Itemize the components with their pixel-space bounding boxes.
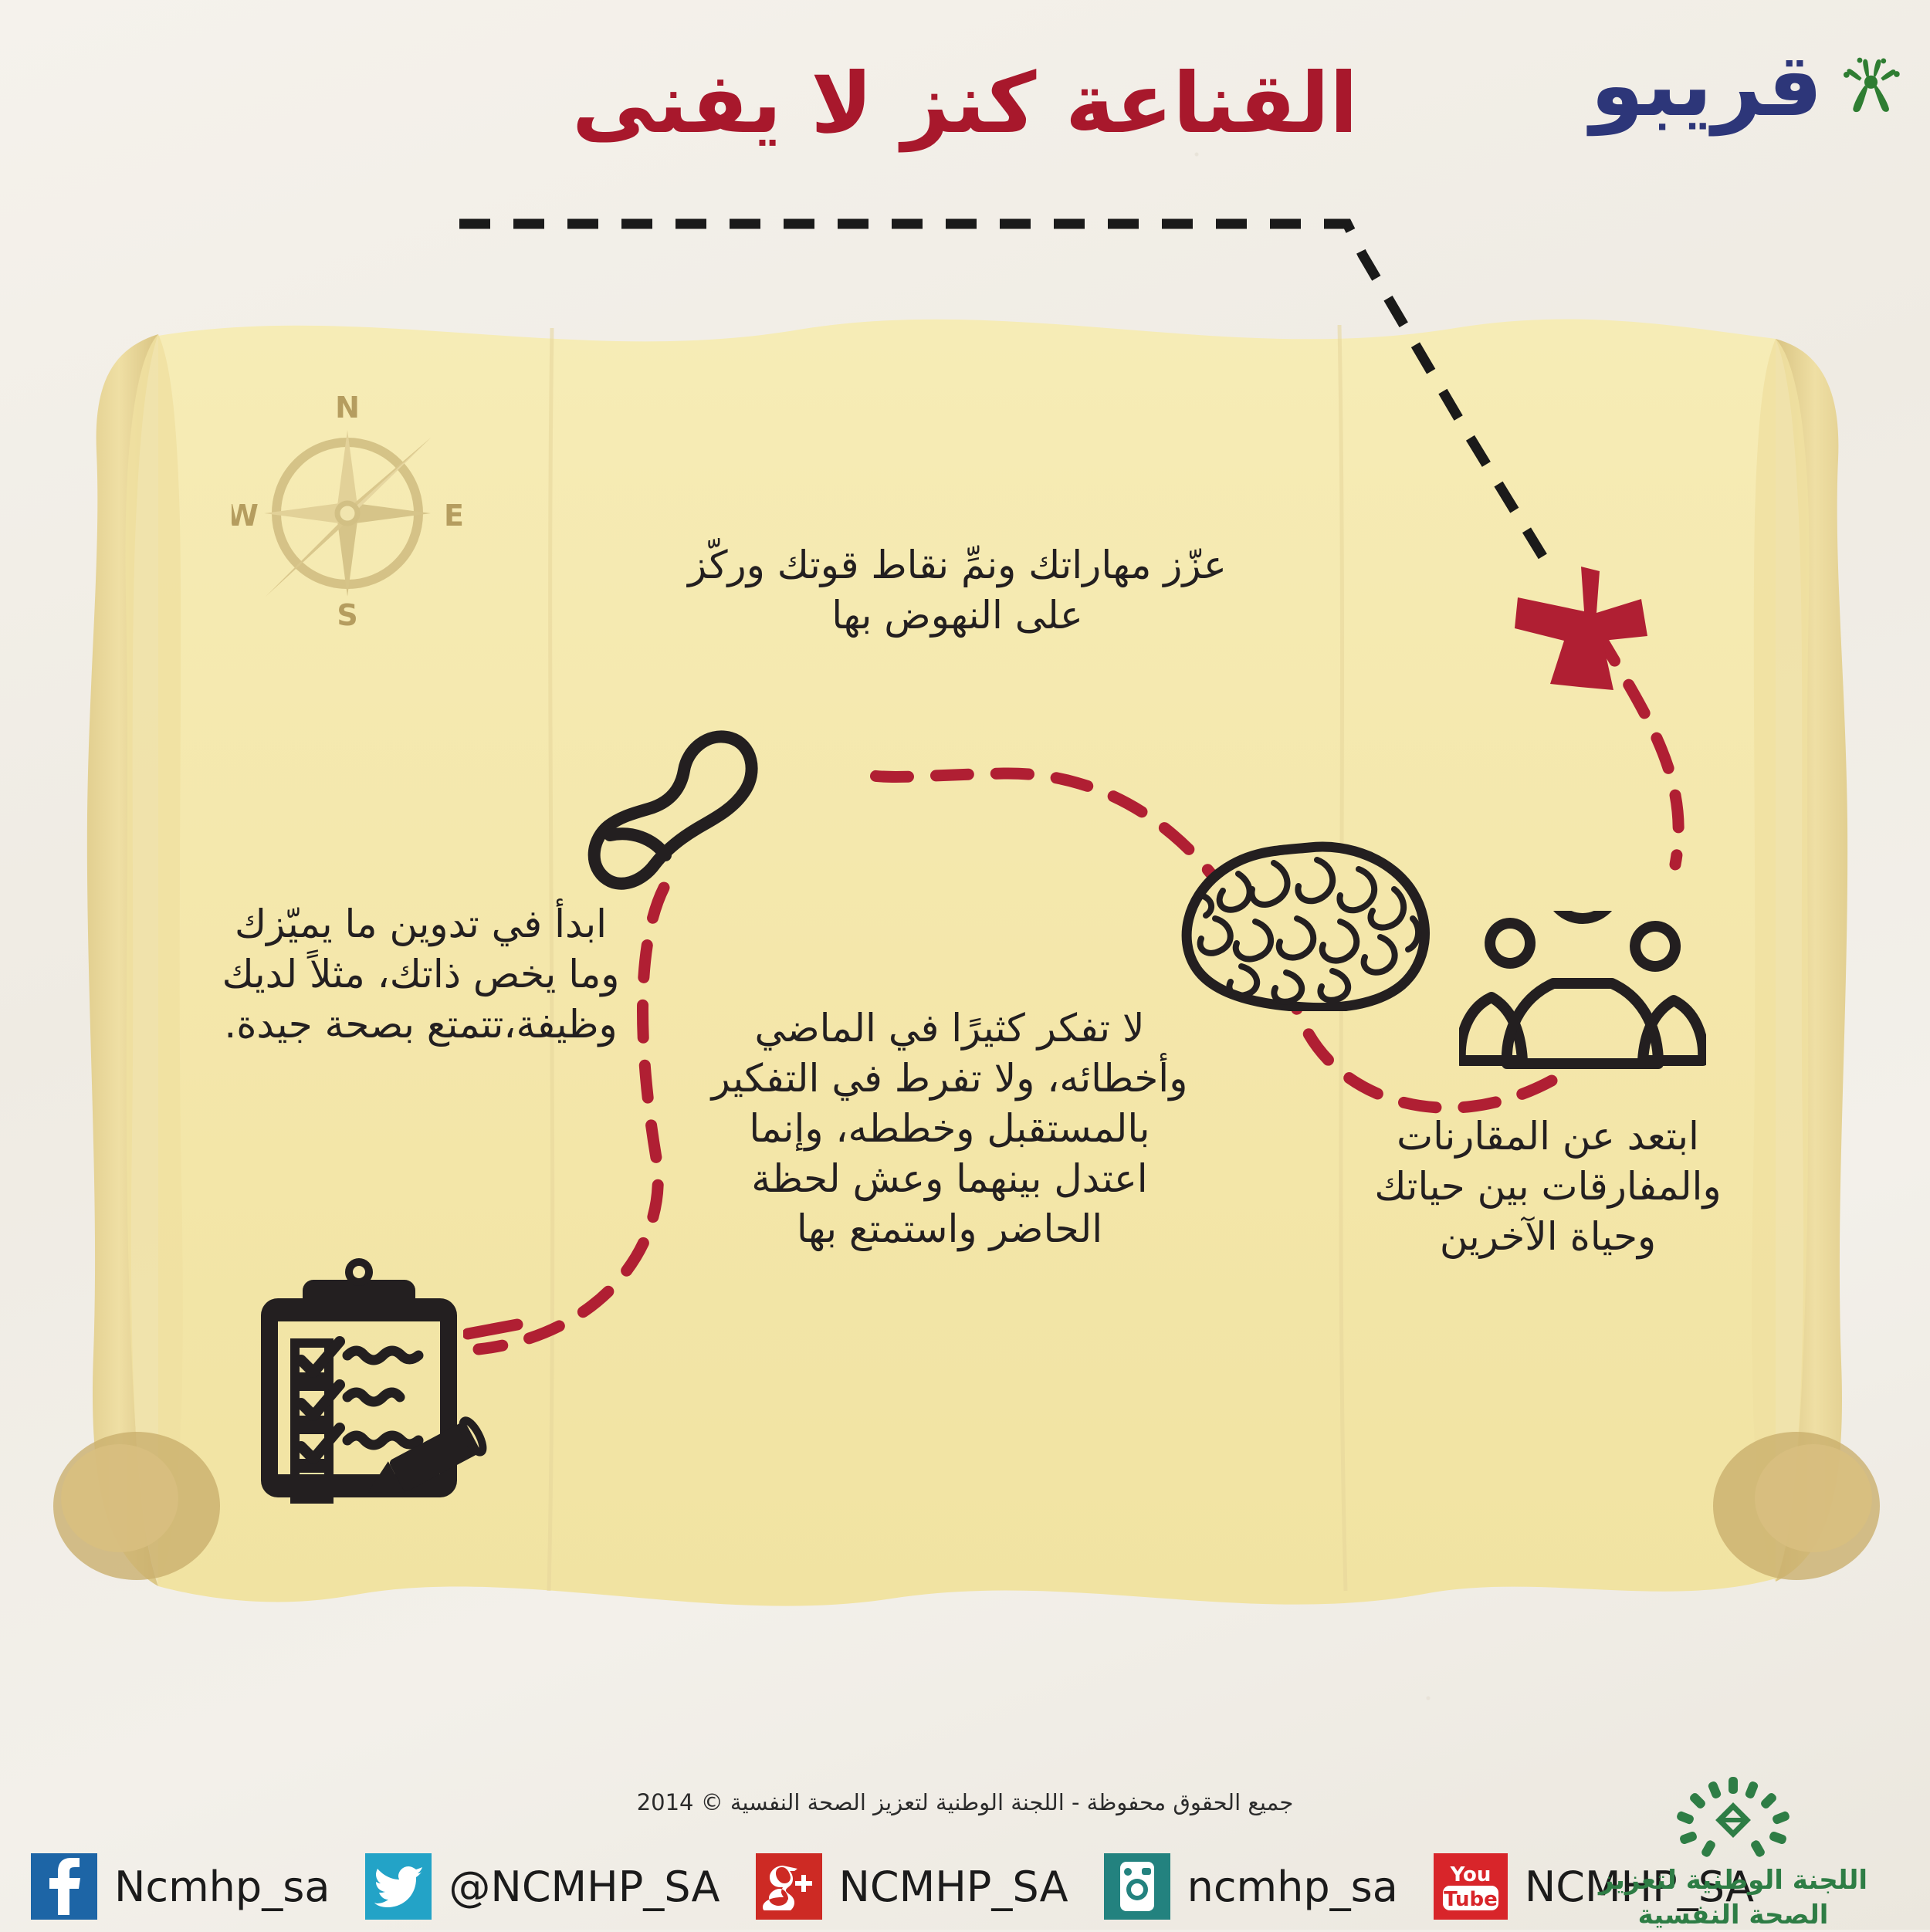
social-link-instagram[interactable]: ncmhp_sa	[1104, 1853, 1434, 1920]
flexed-bicep-icon	[579, 726, 811, 919]
brand-name-label: قريبو	[1590, 42, 1823, 129]
youtube-icon[interactable]: You Tube	[1434, 1853, 1508, 1920]
svg-text:You: You	[1449, 1863, 1491, 1886]
twitter-handle: @NCMHP_SA	[449, 1863, 720, 1911]
svg-text:Tube: Tube	[1444, 1888, 1498, 1911]
tip-text-strength: عزّز مهاراتك ونمِّ نقاط قوتك وركّز على ا…	[672, 540, 1243, 641]
facebook-icon[interactable]	[31, 1853, 97, 1920]
social-link-twitter[interactable]: @NCMHP_SA	[365, 1853, 755, 1920]
tip-text-present: لا تفكر كثيرًا في الماضي وأخطائه، ولا تف…	[699, 1003, 1200, 1254]
route-dash-fragment	[463, 1312, 533, 1351]
social-link-googleplus[interactable]: NCMHP_SA	[756, 1853, 1104, 1920]
twitter-icon[interactable]	[365, 1853, 432, 1920]
compass-north-label: N	[335, 391, 360, 425]
compass-rose-icon: N E S W	[232, 390, 463, 629]
tip-text-compare: ابتعد عن المقارنات والمفارقات بين حياتك …	[1366, 1111, 1729, 1262]
qaribo-person-mark-icon	[1832, 20, 1915, 151]
ncmhp-name-line-2: الصحة النفسية	[1567, 1900, 1899, 1931]
brand-logo-qaribo: قريبو	[1590, 14, 1915, 157]
treasure-x-marker-icon	[1490, 563, 1668, 718]
instagram-handle: ncmhp_sa	[1187, 1863, 1398, 1911]
instagram-icon[interactable]	[1104, 1853, 1170, 1920]
tip-text-notes: ابدأ في تدوين ما يميّزك وما يخص ذاتك، مث…	[216, 899, 625, 1050]
ncmhp-name-line-1: اللجنة الوطنية لتعزيز	[1567, 1865, 1899, 1896]
clipboard-checklist-icon	[255, 1258, 494, 1505]
ncmhp-organization-logo: اللجنة الوطنية لتعزيز الصحة النفسية	[1567, 1775, 1899, 1930]
social-links-bar: Ncmhp_sa @NCMHP_SA NCMHP_SA ncmhp_sa	[31, 1841, 1374, 1932]
social-link-facebook[interactable]: Ncmhp_sa	[31, 1853, 365, 1920]
googleplus-handle: NCMHP_SA	[839, 1863, 1068, 1911]
compass-east-label: E	[444, 499, 463, 533]
ncmhp-emblem-icon	[1664, 1775, 1803, 1859]
facebook-handle: Ncmhp_sa	[114, 1863, 330, 1911]
compass-south-label: S	[337, 598, 357, 629]
google-plus-icon[interactable]	[756, 1853, 822, 1920]
compass-west-label: W	[232, 499, 259, 533]
three-people-icon	[1459, 911, 1706, 1088]
brain-icon	[1181, 841, 1436, 1011]
